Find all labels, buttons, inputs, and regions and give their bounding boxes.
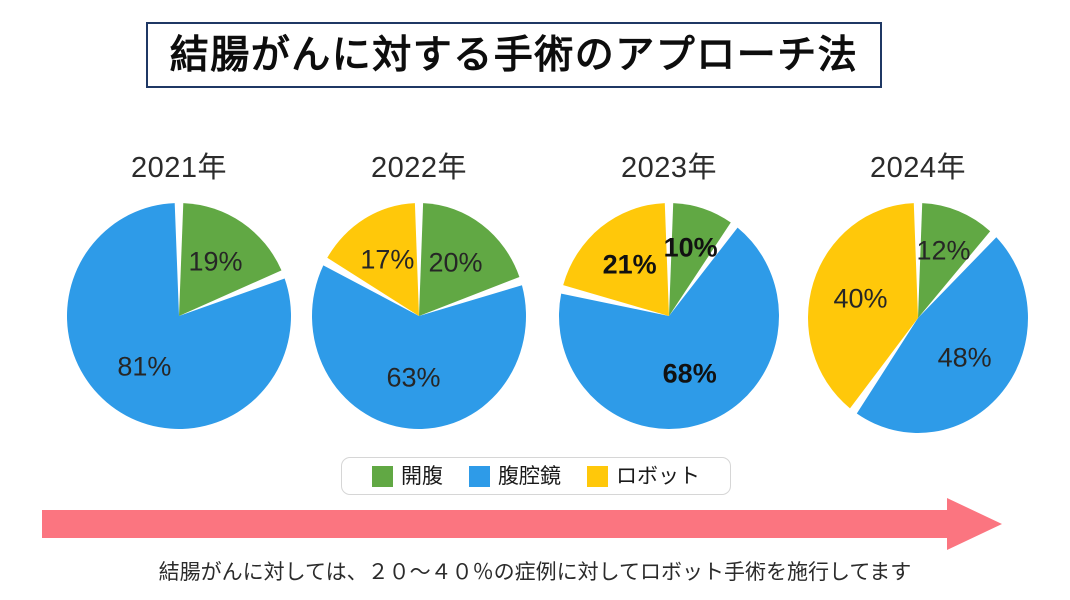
legend-item-open[interactable]: 開腹 [372, 466, 443, 487]
pie-body: 20%63%17% [307, 198, 531, 434]
pie-slice-腹腔鏡[interactable] [312, 265, 526, 429]
slide-caption: 結腸がんに対しては、２０～４０％の症例に対してロボット手術を施行してます [0, 556, 1070, 586]
pie-year-label: 2022年 [307, 152, 531, 192]
chart-legend: 開腹 腹腔鏡 ロボット [341, 457, 731, 495]
legend-label-open: 開腹 [401, 466, 443, 487]
pie-chart-2022年: 2022年20%63%17% [307, 152, 531, 434]
pie-year-label: 2021年 [62, 152, 296, 192]
legend-label-laparoscopic: 腹腔鏡 [498, 466, 561, 487]
legend-label-robot: ロボット [616, 466, 700, 487]
pie-chart-2023年: 2023年10%68%21% [554, 152, 784, 434]
pie-body: 19%81% [62, 198, 296, 434]
pie-body: 12%48%40% [803, 198, 1033, 438]
right-arrow-icon [42, 498, 1002, 550]
legend-swatch-laparoscopic [469, 466, 490, 487]
page-title: 結腸がんに対する手術のアプローチ法 [170, 36, 859, 75]
legend-swatch-robot [587, 466, 608, 487]
pie-chart-2024年: 2024年12%48%40% [803, 152, 1033, 438]
trend-arrow [42, 498, 1002, 550]
legend-item-laparoscopic[interactable]: 腹腔鏡 [469, 466, 561, 487]
legend-swatch-open [372, 466, 393, 487]
pie-chart-2021年: 2021年19%81% [62, 152, 296, 434]
pie-year-label: 2023年 [554, 152, 784, 192]
legend-item-robot[interactable]: ロボット [587, 466, 700, 487]
slide-title-box: 結腸がんに対する手術のアプローチ法 [146, 22, 882, 88]
pie-body: 10%68%21% [554, 198, 784, 434]
pie-year-label: 2024年 [803, 152, 1033, 192]
